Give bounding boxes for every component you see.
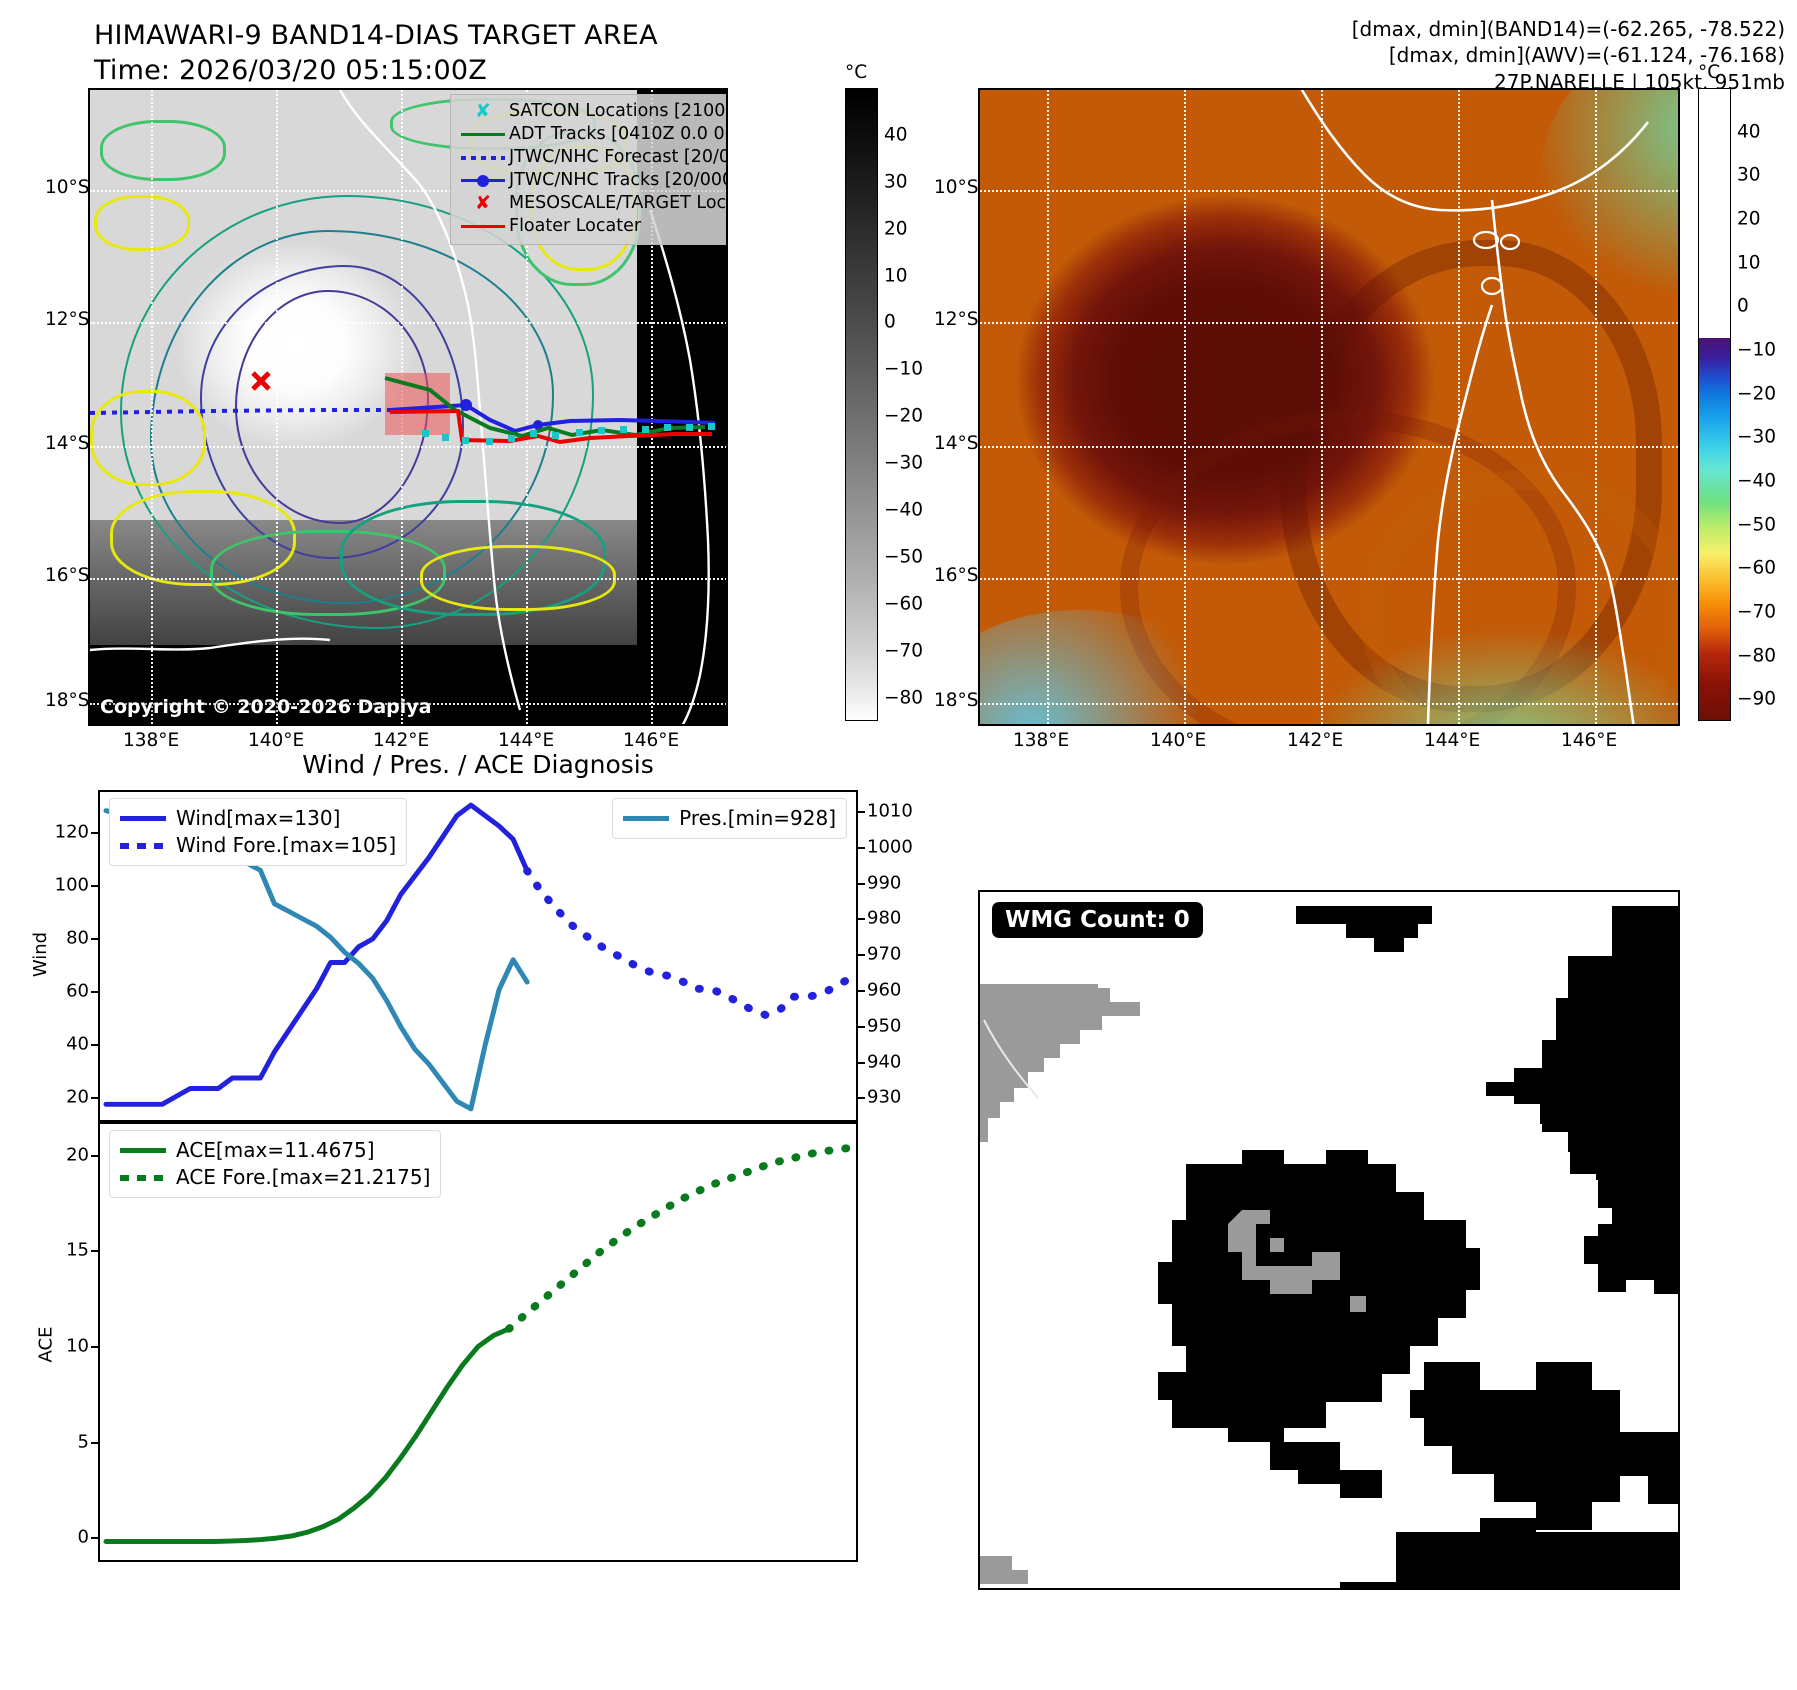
ace-chart[interactable]: 20 15 10 5 0 ACE ACE[max=11.4675] ACE Fo… xyxy=(98,1122,858,1562)
ir-lon-tick-142e: 142°E xyxy=(373,730,429,751)
cb-right-tick: 10 xyxy=(1737,252,1761,273)
ace-ytick: 10 xyxy=(66,1335,89,1356)
gridline-lat-16 xyxy=(980,578,1680,580)
x-marker-icon: ✘ xyxy=(457,194,509,213)
ir-lat-tick-14s: 14°S xyxy=(45,433,90,454)
cb-right-tick: 30 xyxy=(1737,165,1761,186)
diagnosis-chart-title: Wind / Pres. / ACE Diagnosis xyxy=(98,750,858,779)
cb-right-tick: −90 xyxy=(1737,689,1776,710)
tick xyxy=(856,954,865,956)
awv-lat-tick-18s: 18°S xyxy=(934,690,979,711)
cb-right-tick: 0 xyxy=(1737,296,1749,317)
ace-series-line xyxy=(106,1329,509,1542)
cb-left-tick: −80 xyxy=(884,687,923,708)
jtwc-forecast-track xyxy=(90,410,390,413)
ace-ytick: 20 xyxy=(66,1144,89,1165)
awv-lon-tick-138e: 138°E xyxy=(1013,730,1069,751)
legend-item-jtwc-forecast: JTWC/NHC Forecast [20/0000Z] xyxy=(457,146,728,169)
tick xyxy=(91,885,100,887)
ir-map-legend: ✘ SATCON Locations [2100Z 125 935] ADT T… xyxy=(450,94,728,245)
awv-coastline-overlay xyxy=(980,90,1680,726)
wind-ytick: 120 xyxy=(55,821,89,842)
cb-seg-yellow-orange xyxy=(1699,553,1730,603)
solid-line-icon xyxy=(623,816,679,821)
cb-right-tick: −70 xyxy=(1737,601,1776,622)
tick xyxy=(856,990,865,992)
awv-target-area-map[interactable] xyxy=(978,88,1680,726)
cb-seg-white xyxy=(1699,89,1730,338)
legend-label: Wind Fore.[max=105] xyxy=(176,831,396,860)
gridline-lat-14 xyxy=(980,446,1680,448)
tick xyxy=(91,938,100,940)
cb-right-tick: 40 xyxy=(1737,121,1761,142)
right-colorbar xyxy=(1698,88,1731,721)
legend-item-wind: Wind[max=130] xyxy=(120,805,396,832)
tick xyxy=(91,832,100,834)
cb-left-tick: 30 xyxy=(884,171,908,192)
gridline-lat-12 xyxy=(980,322,1680,324)
cb-left-tick: −30 xyxy=(884,453,923,474)
cb-right-tick: −60 xyxy=(1737,558,1776,579)
wind-axis-label: Wind xyxy=(30,932,51,977)
legend-label: JTWC/NHC Tracks [20/0000Z] xyxy=(509,168,728,193)
right-colorbar-ticks: 40 30 20 10 0 −10 −20 −30 −40 −50 −60 −7… xyxy=(1737,88,1797,721)
ir-lat-tick-16s: 16°S xyxy=(45,565,90,586)
wind-ytick: 40 xyxy=(66,1033,89,1054)
legend-item-ace-forecast: ACE Fore.[max=21.2175] xyxy=(120,1164,430,1191)
pressure-ytick: 960 xyxy=(867,979,901,1000)
cb-right-tick: −10 xyxy=(1737,340,1776,361)
cb-right-tick: −80 xyxy=(1737,645,1776,666)
legend-label: ACE[max=11.4675] xyxy=(176,1136,375,1165)
cb-left-tick: 40 xyxy=(884,124,908,145)
wmg-mask-panel[interactable]: WMG Count: 0 xyxy=(978,890,1680,1590)
cb-seg-orange-red xyxy=(1699,603,1730,653)
tick xyxy=(856,1062,865,1064)
cb-seg-purple-blue xyxy=(1699,338,1730,395)
awv-imagery xyxy=(980,90,1680,726)
dotted-line-icon xyxy=(457,156,509,160)
tick xyxy=(91,1044,100,1046)
tick xyxy=(856,883,865,885)
legend-item-jtwc-tracks: JTWC/NHC Tracks [20/0000Z] xyxy=(457,169,728,192)
pressure-ytick: 930 xyxy=(867,1087,901,1108)
line-marker-icon xyxy=(457,179,509,182)
awv-lon-tick-142e: 142°E xyxy=(1287,730,1343,751)
ir-lon-tick-146e: 146°E xyxy=(623,730,679,751)
solid-line-icon xyxy=(457,225,509,228)
ir-target-area-map[interactable]: Copyright © 2020-2026 Dapiya ✘ SATCON Lo… xyxy=(88,88,728,726)
legend-label: MESOSCALE/TARGET Location xyxy=(509,191,728,216)
cb-left-tick: −60 xyxy=(884,593,923,614)
legend-label: Pres.[min=928] xyxy=(679,804,836,833)
awv-lat-tick-14s: 14°S xyxy=(934,433,979,454)
tick xyxy=(91,1537,100,1539)
awv-lon-tick-146e: 146°E xyxy=(1561,730,1617,751)
legend-label: ADT Tracks [0410Z 0.0 0.0] xyxy=(509,122,728,147)
pressure-ytick: 1000 xyxy=(867,836,913,857)
pressure-ytick: 980 xyxy=(867,908,901,929)
gridline-lat-10 xyxy=(980,190,1680,192)
solid-line-icon xyxy=(457,133,509,136)
tick xyxy=(91,1442,100,1444)
pressure-ytick: 990 xyxy=(867,872,901,893)
legend-label: JTWC/NHC Forecast [20/0000Z] xyxy=(509,145,728,170)
wind-ytick: 80 xyxy=(66,927,89,948)
gridline-lon-144 xyxy=(1458,90,1460,726)
solid-line-icon xyxy=(120,816,176,821)
left-colorbar-unit: °C xyxy=(845,62,867,83)
tick xyxy=(91,1155,100,1157)
dotted-line-icon xyxy=(120,843,176,849)
cb-left-tick: −70 xyxy=(884,640,923,661)
cb-right-tick: −20 xyxy=(1737,383,1776,404)
cb-seg-green-yellow xyxy=(1699,502,1730,552)
tick xyxy=(91,1346,100,1348)
cb-seg-cyan-green xyxy=(1699,449,1730,503)
awv-lat-tick-12s: 12°S xyxy=(934,309,979,330)
wmg-count-badge: WMG Count: 0 xyxy=(992,902,1203,938)
legend-item-adt: ADT Tracks [0410Z 0.0 0.0] xyxy=(457,123,728,146)
tick xyxy=(856,847,865,849)
pressure-ytick: 950 xyxy=(867,1015,901,1036)
gridline-lon-142 xyxy=(1321,90,1323,726)
cb-left-tick: −40 xyxy=(884,500,923,521)
legend-label: ACE Fore.[max=21.2175] xyxy=(176,1163,430,1192)
ace-ytick: 15 xyxy=(66,1240,89,1261)
wind-forecast-series-line xyxy=(527,871,850,1015)
tick xyxy=(91,991,100,993)
gridline-lat-18 xyxy=(980,703,1680,705)
solid-line-icon xyxy=(120,1148,176,1153)
left-colorbar xyxy=(845,88,878,721)
wind-legend: Wind[max=130] Wind Fore.[max=105] xyxy=(109,798,407,866)
page-title: HIMAWARI-9 BAND14-DIAS TARGET AREA Time:… xyxy=(94,18,658,88)
ir-lat-tick-10s: 10°S xyxy=(45,177,90,198)
awv-lat-tick-10s: 10°S xyxy=(934,177,979,198)
copyright-notice: Copyright © 2020-2026 Dapiya xyxy=(100,696,431,718)
pressure-ytick: 940 xyxy=(867,1051,901,1072)
tick xyxy=(91,1250,100,1252)
cb-right-tick: 20 xyxy=(1737,209,1761,230)
mesoscale-target-marker xyxy=(253,373,269,389)
cb-left-tick: −10 xyxy=(884,359,923,380)
tick xyxy=(856,811,865,813)
wind-ytick: 20 xyxy=(66,1087,89,1108)
gridline-lon-140 xyxy=(1184,90,1186,726)
tick xyxy=(856,918,865,920)
ir-lat-tick-12s: 12°S xyxy=(45,309,90,330)
dmax-band14-readout: [dmax, dmin](BAND14)=(-62.265, -78.522) xyxy=(1352,16,1785,42)
tick xyxy=(856,1026,865,1028)
awv-lon-tick-144e: 144°E xyxy=(1424,730,1480,751)
ace-axis-label: ACE xyxy=(35,1327,56,1363)
ir-lon-tick-144e: 144°E xyxy=(498,730,554,751)
ace-ytick: 0 xyxy=(78,1527,89,1548)
cb-right-tick: −30 xyxy=(1737,427,1776,448)
ir-lon-tick-138e: 138°E xyxy=(123,730,179,751)
cb-left-tick: −20 xyxy=(884,406,923,427)
cb-seg-blue-cyan xyxy=(1699,395,1730,449)
legend-item-mesoscale: ✘ MESOSCALE/TARGET Location xyxy=(457,192,728,215)
legend-item-wind-forecast: Wind Fore.[max=105] xyxy=(120,832,396,859)
wind-ytick: 100 xyxy=(55,874,89,895)
cb-left-tick: −50 xyxy=(884,546,923,567)
ace-forecast-series-line xyxy=(509,1148,850,1329)
pressure-ytick: 1010 xyxy=(867,800,913,821)
header-readouts: [dmax, dmin](BAND14)=(-62.265, -78.522) … xyxy=(1352,16,1785,95)
cb-left-tick: 10 xyxy=(884,265,908,286)
awv-lat-tick-16s: 16°S xyxy=(934,565,979,586)
ace-legend: ACE[max=11.4675] ACE Fore.[max=21.2175] xyxy=(109,1130,441,1198)
title-line: HIMAWARI-9 BAND14-DIAS TARGET AREA xyxy=(94,18,658,53)
wind-pressure-chart[interactable]: 120 100 80 60 40 20 Wind 1010 1000 990 9… xyxy=(98,790,858,1122)
dotted-line-icon xyxy=(120,1175,176,1181)
legend-item-satcon: ✘ SATCON Locations [2100Z 125 935] xyxy=(457,100,728,123)
legend-item-ace: ACE[max=11.4675] xyxy=(120,1137,430,1164)
gridline-lon-146 xyxy=(1595,90,1597,726)
cb-left-tick: 20 xyxy=(884,218,908,239)
x-marker-icon: ✘ xyxy=(457,102,509,121)
legend-item-pressure: Pres.[min=928] xyxy=(623,805,836,832)
time-line: Time: 2026/03/20 05:15:00Z xyxy=(94,53,658,88)
legend-item-floater: Floater Locater xyxy=(457,215,728,238)
ir-lat-tick-18s: 18°S xyxy=(45,690,90,711)
cb-seg-darkred xyxy=(1699,654,1730,720)
cb-right-tick: −40 xyxy=(1737,470,1776,491)
gridline-lon-138 xyxy=(1047,90,1049,726)
legend-label: Wind[max=130] xyxy=(176,804,340,833)
awv-lon-tick-140e: 140°E xyxy=(1150,730,1206,751)
tick xyxy=(856,1097,865,1099)
legend-label: Floater Locater xyxy=(509,214,641,239)
right-colorbar-unit: °C xyxy=(1698,62,1720,83)
tick xyxy=(91,1097,100,1099)
wind-ytick: 60 xyxy=(66,980,89,1001)
pressure-legend: Pres.[min=928] xyxy=(612,798,847,839)
pressure-ytick: 970 xyxy=(867,944,901,965)
legend-label: SATCON Locations [2100Z 125 935] xyxy=(509,99,728,124)
cb-right-tick: −50 xyxy=(1737,514,1776,535)
ace-ytick: 5 xyxy=(78,1431,89,1452)
ir-lon-tick-140e: 140°E xyxy=(248,730,304,751)
wmg-mask-graphic xyxy=(980,892,1680,1590)
cb-left-tick: 0 xyxy=(884,312,896,333)
